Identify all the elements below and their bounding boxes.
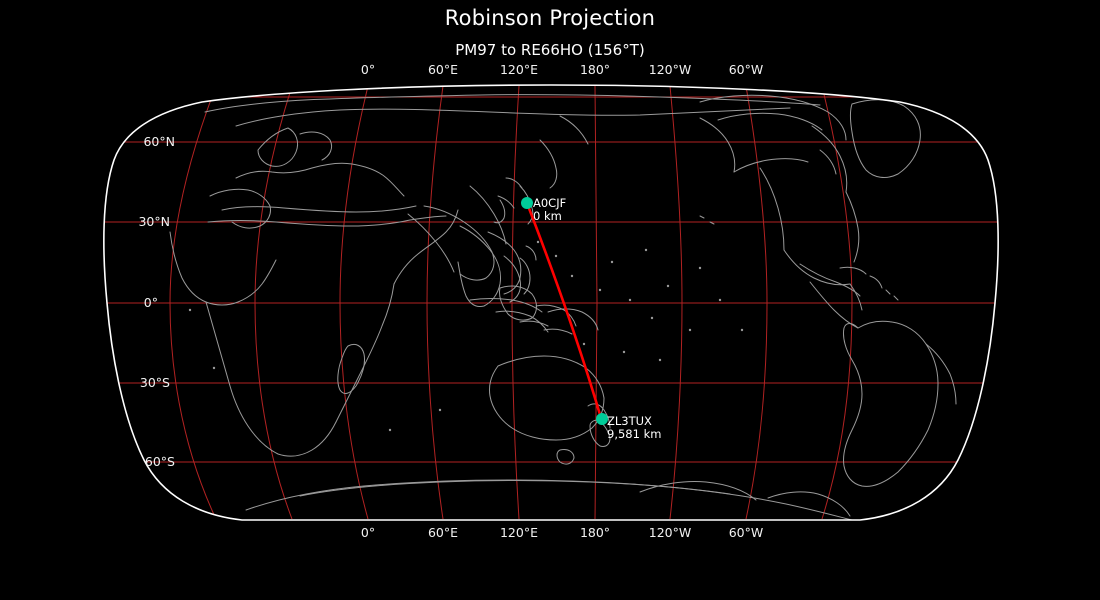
destination-callsign: ZL3TUX xyxy=(607,415,661,428)
bottom-lon-tick-180: 180° xyxy=(565,525,625,540)
top-lon-tick-120e: 120°E xyxy=(486,62,552,77)
origin-distance: 0 km xyxy=(533,210,566,223)
bottom-lon-tick-120e: 120°E xyxy=(486,525,552,540)
lat-tick-30n: 30°N xyxy=(105,214,170,229)
top-lon-tick-60e: 60°E xyxy=(413,62,473,77)
origin-callsign: A0CJF xyxy=(533,197,566,210)
map-figure: Robinson Projection PM97 to RE66HO (156°… xyxy=(0,0,1100,600)
marker-origin[interactable] xyxy=(521,197,533,209)
lat-tick-30s: 30°S xyxy=(105,375,170,390)
top-lon-tick-120w: 120°W xyxy=(637,62,703,77)
destination-distance: 9,581 km xyxy=(607,428,661,441)
bottom-lon-tick-0: 0° xyxy=(338,525,398,540)
origin-annotation: A0CJF 0 km xyxy=(533,197,566,222)
bottom-lon-tick-60w: 60°W xyxy=(716,525,776,540)
lat-tick-60s: 60°S xyxy=(110,454,175,469)
destination-annotation: ZL3TUX 9,581 km xyxy=(607,415,661,440)
top-lon-tick-60w: 60°W xyxy=(716,62,776,77)
bottom-lon-tick-120w: 120°W xyxy=(637,525,703,540)
bottom-lon-tick-60e: 60°E xyxy=(413,525,473,540)
lat-tick-60n: 60°N xyxy=(110,134,175,149)
lat-tick-0: 0° xyxy=(93,295,158,310)
robinson-map-canvas xyxy=(0,0,1100,600)
top-lon-tick-0: 0° xyxy=(338,62,398,77)
top-lon-tick-180: 180° xyxy=(565,62,625,77)
